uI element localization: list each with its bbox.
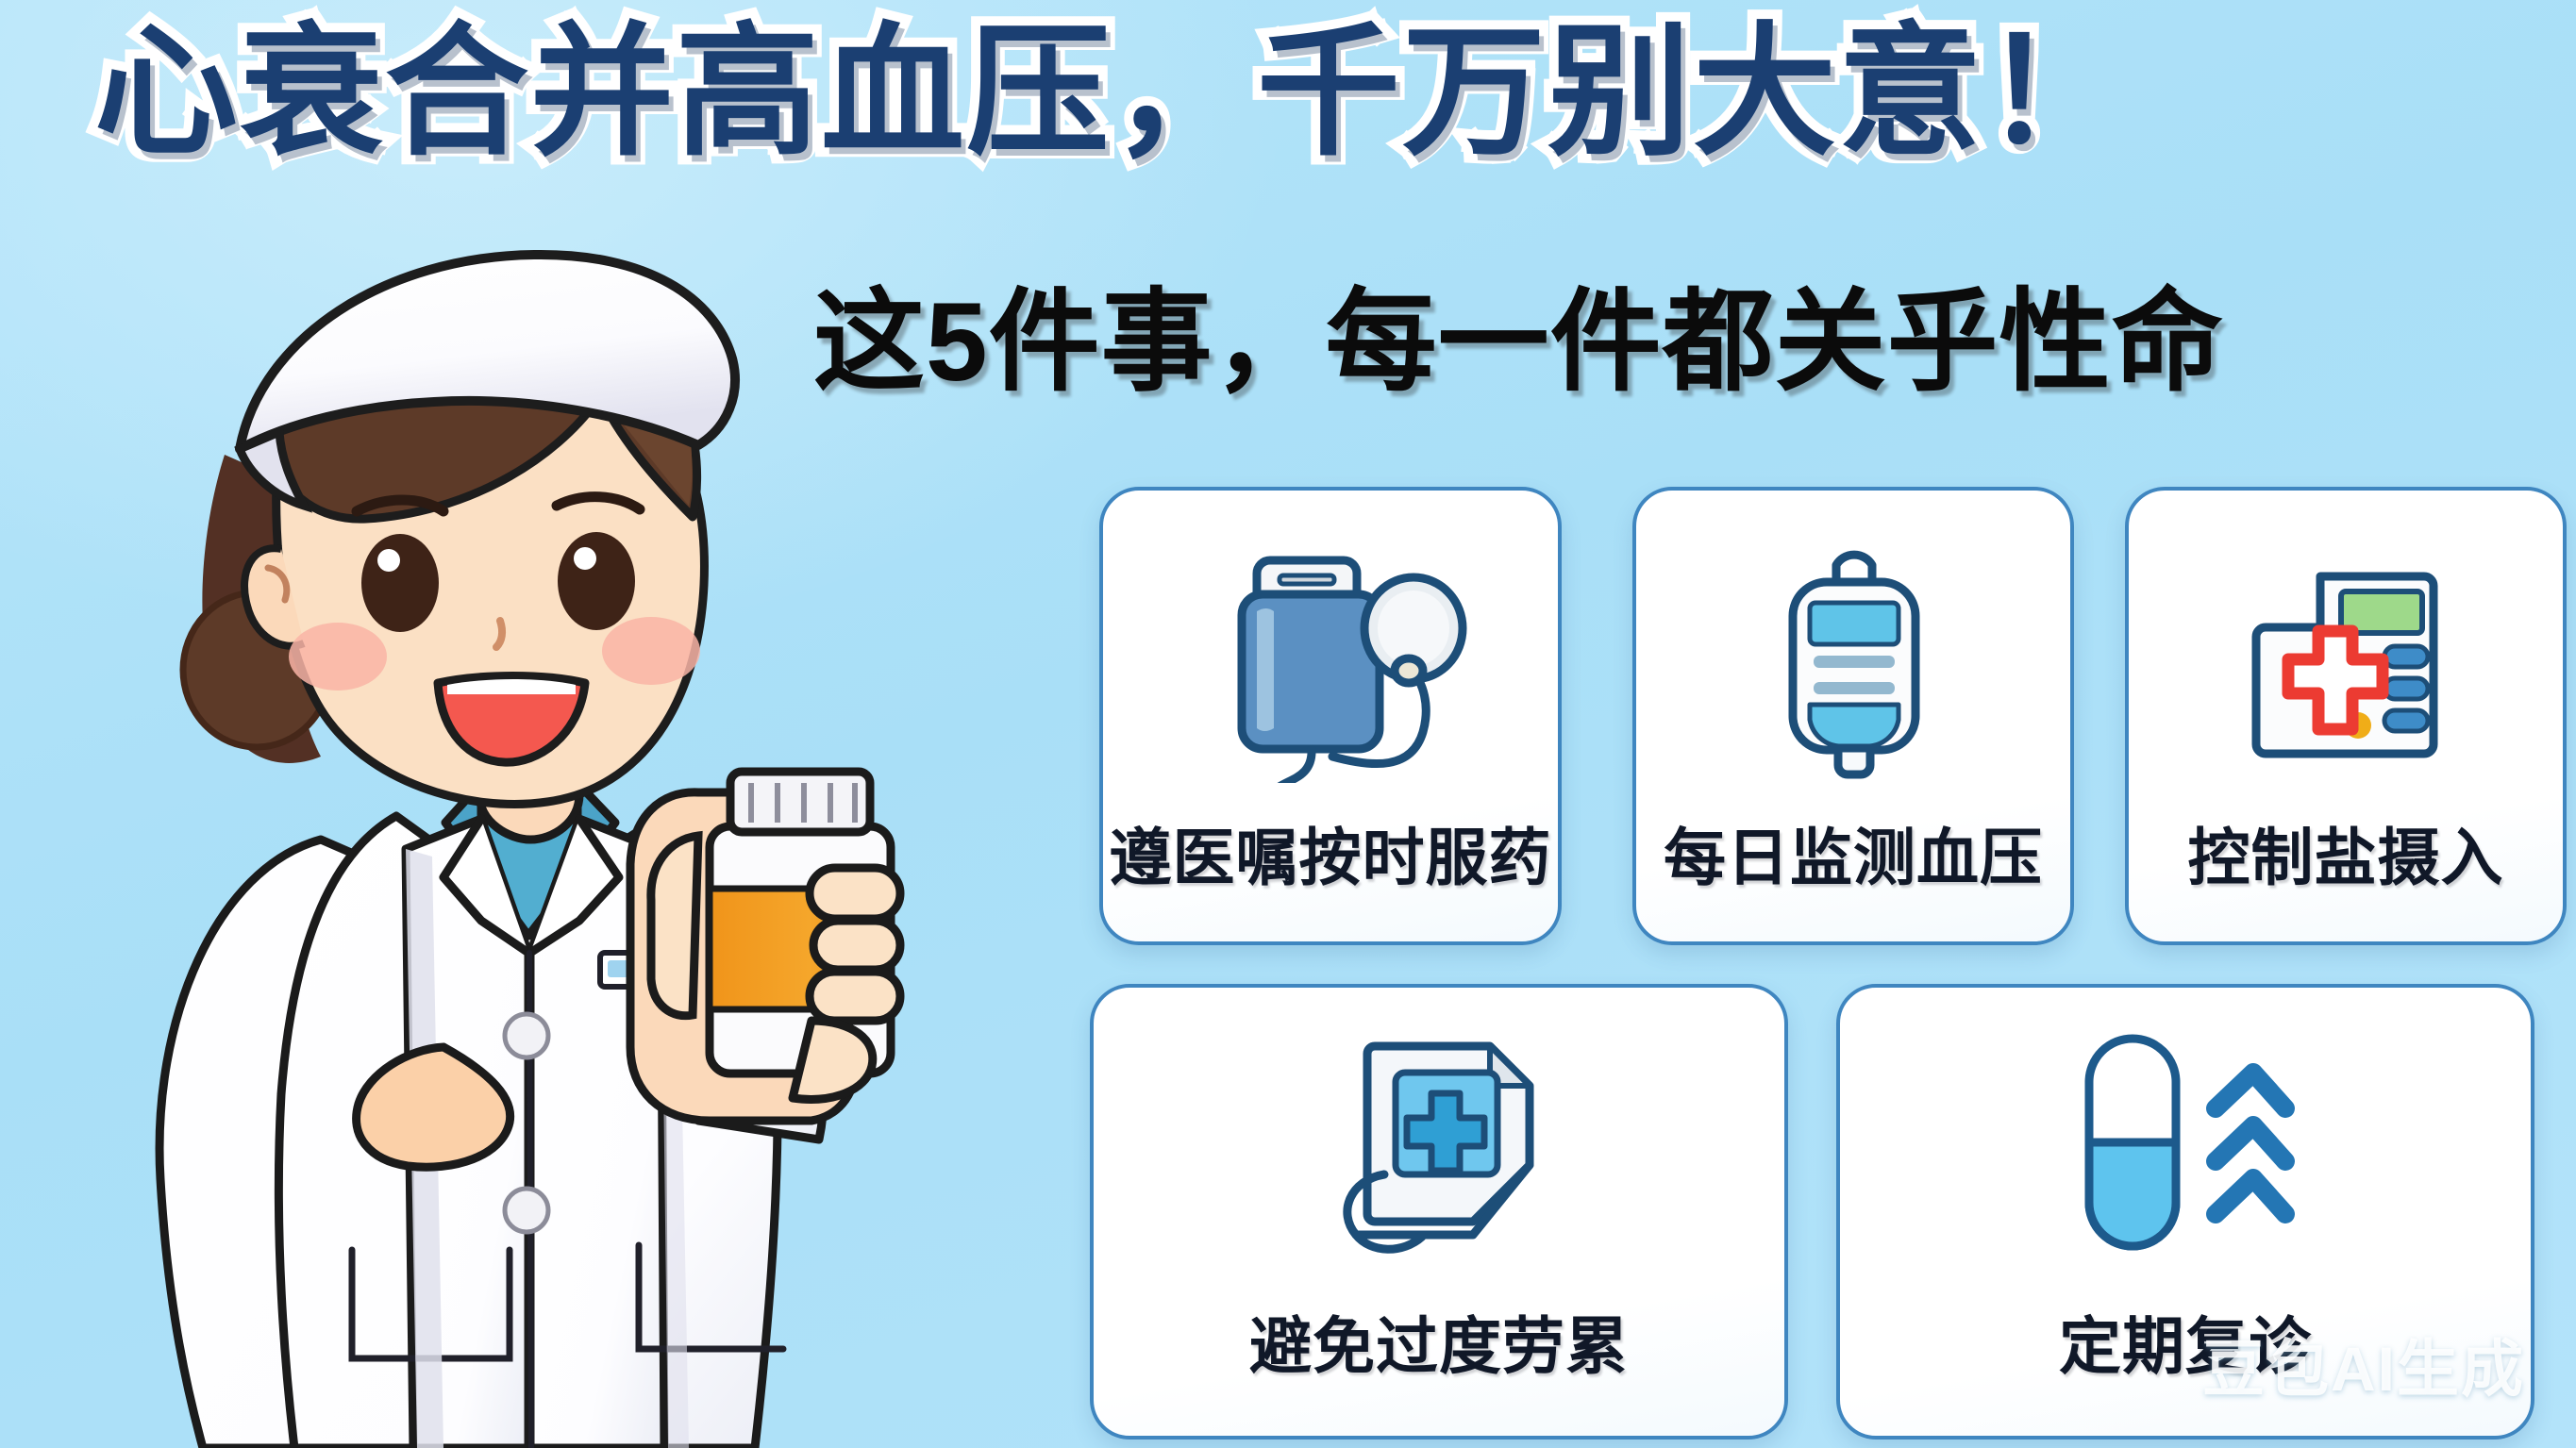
card-label: 遵医嘱按时服药 <box>1110 807 1552 898</box>
card-label: 控制盐摄入 <box>2188 807 2504 898</box>
icon-container <box>1636 491 2070 807</box>
headline-text: 心衰合并高血压，千万别大意！ <box>94 21 2129 164</box>
icon-container <box>1840 988 2531 1296</box>
icon-container <box>1103 491 1558 807</box>
icon-container <box>2129 491 2563 807</box>
watermark: 豆包AI生成 <box>2202 1319 2525 1409</box>
icon-container <box>1094 988 1784 1296</box>
tip-card-take-medication[interactable]: 遵医嘱按时服药 <box>1099 487 1562 945</box>
blood-pressure-cuff-icon <box>1189 538 1472 783</box>
subheadline-text: 这5件事，每一件都关乎性命 <box>813 287 2224 398</box>
page-subtitle: 这5件事，每一件都关乎性命 <box>813 272 2417 413</box>
medical-bag-icon <box>1297 1010 1581 1274</box>
card-label: 每日监测血压 <box>1664 807 2043 898</box>
first-aid-kit-icon <box>2218 542 2473 778</box>
page-title: 心衰合并高血压，千万别大意！ <box>94 8 2510 177</box>
capsule-pill-icon <box>2044 1020 2327 1265</box>
iv-bag-icon <box>1740 533 1966 788</box>
poster-canvas: 心衰合并高血压，千万别大意！ 这5件事，每一件都关乎性命 遵医嘱按时 <box>0 0 2576 1448</box>
tip-card-avoid-fatigue[interactable]: 避免过度劳累 <box>1090 984 1788 1440</box>
tip-card-limit-salt[interactable]: 控制盐摄入 <box>2125 487 2567 945</box>
card-label: 避免过度劳累 <box>1249 1296 1629 1387</box>
tip-card-monitor-bp[interactable]: 每日监测血压 <box>1632 487 2074 945</box>
